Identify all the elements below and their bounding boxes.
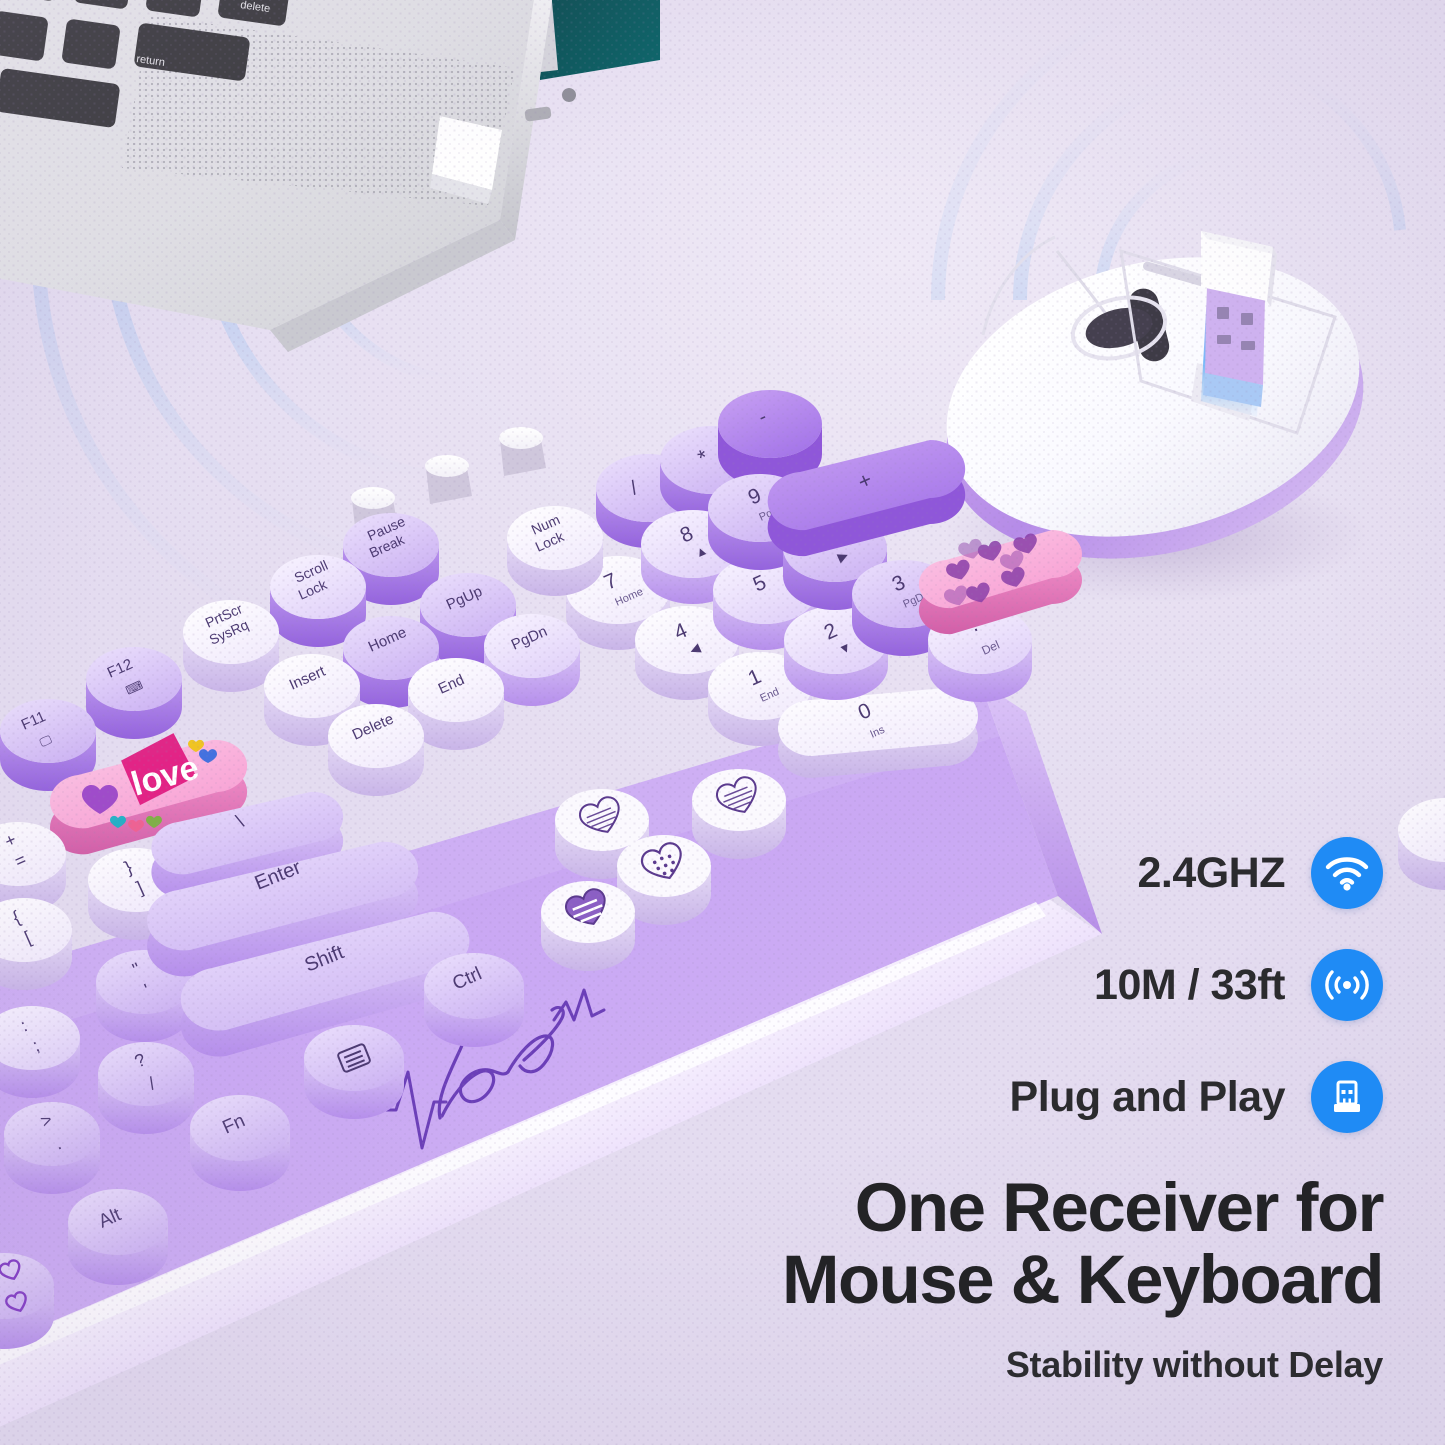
signal-waves-icon <box>1311 949 1383 1021</box>
feature-row-range: 10M / 33ft <box>763 942 1383 1028</box>
headline-line-1: One Receiver for <box>523 1172 1383 1244</box>
key-partial-right-a[interactable] <box>1398 798 1445 890</box>
headline-subtitle: Stability without Delay <box>523 1344 1383 1386</box>
feature-label-range: 10M / 33ft <box>1094 964 1285 1007</box>
usb-dongle-icon <box>1311 1061 1383 1133</box>
headline-line-2: Mouse & Keyboard <box>523 1244 1383 1316</box>
feature-label-plug-and-play: Plug and Play <box>1010 1076 1285 1119</box>
headline-block: One Receiver for Mouse & Keyboard Stabil… <box>523 1172 1383 1386</box>
wifi-icon <box>1311 837 1383 909</box>
feature-list: 2.4GHZ 10M / 33ft <box>763 830 1383 1166</box>
feature-label-24ghz: 2.4GHZ <box>1137 852 1285 895</box>
plugged-usb-receiver <box>430 116 502 204</box>
feature-row-plug-and-play: Plug and Play <box>763 1054 1383 1140</box>
feature-row-24ghz: 2.4GHZ <box>763 830 1383 916</box>
indicator-lights <box>351 427 546 536</box>
product-marketing-image: O P L F10 F11 F12 delete return shift <box>0 0 1445 1445</box>
